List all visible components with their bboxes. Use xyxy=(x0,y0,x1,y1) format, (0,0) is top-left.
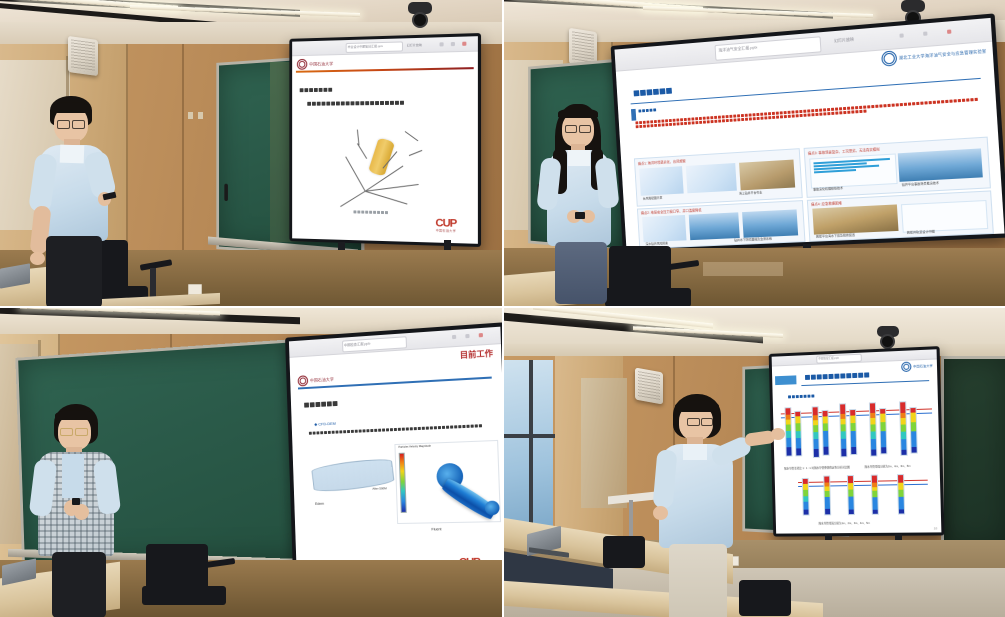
card-1-thumb-photo xyxy=(739,160,795,191)
log-column xyxy=(823,475,831,515)
collar xyxy=(683,444,707,460)
collar xyxy=(568,150,590,166)
log-column xyxy=(794,411,802,457)
divider-vertical xyxy=(502,0,504,617)
glasses-left xyxy=(57,120,70,129)
org-logo: 中国石油大学 xyxy=(298,374,335,387)
maximize-button[interactable] xyxy=(465,334,469,338)
minimize-button[interactable] xyxy=(900,33,904,37)
card-1-tag: 痛点1: 海洋环境恶劣化、台风频繁 xyxy=(638,158,686,166)
minimize-button[interactable] xyxy=(439,42,443,46)
glasses-left xyxy=(687,418,700,426)
collar xyxy=(60,145,85,164)
wall-switch xyxy=(188,112,193,119)
pipe-tip xyxy=(485,501,500,516)
close-button[interactable] xyxy=(947,29,951,33)
arm-right xyxy=(594,157,619,209)
window-mullion xyxy=(529,360,533,540)
card-3-caption-2: 钻井水下防喷器组及监测系统 xyxy=(734,237,772,243)
legend-title: Particles Velocity Magnitude xyxy=(398,445,431,449)
hand-left xyxy=(653,506,668,520)
log-column xyxy=(897,474,905,514)
university-seal-icon xyxy=(298,375,309,386)
axis-line xyxy=(405,131,419,141)
log-chart-row-2 xyxy=(798,474,929,520)
window-mullion xyxy=(503,434,555,438)
glasses-left xyxy=(60,428,73,436)
card-1-caption-1: 台风路径图示意 xyxy=(643,196,663,201)
log-chart-row-1 xyxy=(781,400,934,464)
log-column xyxy=(869,402,877,456)
card-2-caption-2: 钻井平台事故场景推演技术 xyxy=(902,181,939,187)
card-1-caption-2: 海上钻井平台作业 xyxy=(739,190,762,195)
figure-label-after: After 500M xyxy=(372,486,387,490)
presentation-clicker-icon xyxy=(72,498,80,505)
glasses-right xyxy=(75,428,88,436)
card-4-thumb-well xyxy=(901,200,988,233)
chair-back xyxy=(603,536,645,568)
chair-post xyxy=(150,268,156,298)
card-1-thumb-map xyxy=(639,166,683,196)
minimize-button[interactable] xyxy=(452,335,456,339)
door xyxy=(581,378,627,508)
log-column xyxy=(847,475,855,515)
wall-switch xyxy=(198,112,203,119)
presentation-display: 中期答辩汇报.pptx 中国石油大学 二、深海局部环保型形态表层导管 xyxy=(769,346,945,536)
card-4: 痛点4: 应急救援困难 救援平台海水下应急抢修装置 救援井轨道设计中图 xyxy=(807,190,994,241)
card-3: 痛点2: 地层安全压力窗口窄、井口温度降低 深水钻井风险因素 钻井水下防喷器组及… xyxy=(637,200,806,249)
figure-label-edem: Edem xyxy=(315,502,324,506)
slideshow-button-label[interactable]: 幻灯片放映 xyxy=(407,42,422,46)
slide-canvas: 毕业设计中期答辩汇报.pptx 幻灯片放映 中国石油大学 一、毕业 xyxy=(292,36,478,244)
window xyxy=(503,360,553,540)
org-logo-label: 中国石油大学 xyxy=(309,61,333,67)
glasses-right xyxy=(701,418,713,426)
axis-line xyxy=(409,150,423,156)
panel-top-left: 毕业设计中期答辩汇报.pptx 幻灯片放映 中国石油大学 一、毕业 xyxy=(0,0,502,307)
display-screen: 毕业设计中期答辩汇报.pptx 幻灯片放映 中国石油大学 一、毕业 xyxy=(292,36,478,244)
display-screen: 中期检查汇报.pptx 目前工作 中国石油大学 ➢ 复现文献内容: xyxy=(289,327,502,589)
presentation-display: 毕业设计中期答辩汇报.pptx 幻灯片放映 中国石油大学 一、毕业 xyxy=(289,33,481,247)
fringe xyxy=(51,102,91,113)
divider-horizontal xyxy=(0,306,1005,308)
presenter-2 xyxy=(535,104,635,294)
card-3-thumb-system xyxy=(742,209,798,237)
panel-top-right: 海洋油气安全汇报.pptx 幻灯片放映 湖北工业大学海洋油气安全与应急管理实验室… xyxy=(503,0,1005,307)
log-column xyxy=(812,406,820,458)
card-4-caption-1: 救援平台海水下应急抢修装置 xyxy=(816,233,855,239)
card-2: 痛点3: 事故场景复杂、工况恶劣、无法真实模拟 事故演化机理模拟技术 钻井平台事… xyxy=(804,137,991,198)
slide-canvas: 海洋油气安全汇报.pptx 幻灯片放映 湖北工业大学海洋油气安全与应急管理实验室… xyxy=(615,18,1005,250)
caption-row2: 隔水导管埋深分别为1m、2m、3m、4m、5m xyxy=(819,521,870,525)
camera-lens-icon xyxy=(880,334,895,349)
card-4-thumb-platform xyxy=(812,204,898,234)
shirt-opening xyxy=(62,454,84,498)
caption-row1-right: 隔水导管埋深分别为2m、4m、6m、8m xyxy=(865,464,911,469)
org-logo: 中国石油大学 xyxy=(901,361,933,372)
card-2-thumb-diagram xyxy=(809,153,897,188)
axis-line xyxy=(365,191,407,205)
log-column xyxy=(784,407,792,456)
glasses-right xyxy=(579,125,591,133)
hand-left xyxy=(30,252,45,265)
display-screen: 海洋油气安全汇报.pptx 幻灯片放映 湖北工业大学海洋油气安全与应急管理实验室… xyxy=(615,18,1005,250)
trousers xyxy=(555,242,607,304)
log-column xyxy=(909,407,917,454)
log-column xyxy=(822,410,830,456)
card-3-thumb-diagram xyxy=(642,215,686,242)
caption-row1-left: 隔水导管长径比 1 : 1 : 1 时隔水导管整体稳定性分析对比图 xyxy=(784,465,850,470)
trousers xyxy=(46,236,102,307)
figure-label-fluent: Fluent xyxy=(431,527,441,531)
bullet-title: ◆ CFD-DEM xyxy=(314,421,336,427)
fringe xyxy=(558,108,598,118)
color-legend xyxy=(399,453,407,513)
fringe xyxy=(55,410,95,420)
slide-browser-bar: 毕业设计中期答辩汇报.pptx 幻灯片放映 xyxy=(292,36,478,56)
camera-lens-icon xyxy=(412,12,428,28)
cup-brand-logo: CUP 中国石油大学 xyxy=(435,218,456,233)
card-2-caption-1: 事故演化机理模拟技术 xyxy=(813,186,843,192)
section-label: 目前工作 xyxy=(460,348,493,361)
presenter-1 xyxy=(28,96,128,286)
university-seal-icon xyxy=(297,59,307,70)
fluent-render-panel: Particles Velocity Magnitude xyxy=(394,440,501,524)
chair-seat xyxy=(142,586,226,605)
card-2-thumb-photo xyxy=(898,148,983,181)
desk-far xyxy=(703,262,783,276)
university-seal-icon xyxy=(901,362,911,373)
glasses-left xyxy=(565,125,577,133)
log-column xyxy=(879,408,887,454)
presentation-clicker-icon xyxy=(103,192,117,201)
page-number: 10 xyxy=(934,526,938,530)
trousers xyxy=(52,552,106,617)
slideshow-button-label[interactable]: 幻灯片放映 xyxy=(834,37,854,45)
coordinate-diagram xyxy=(336,121,446,209)
org-logo: 中国石油大学 xyxy=(297,58,333,70)
panel-bottom-left: 中期检查汇报.pptx 目前工作 中国石油大学 ➢ 复现文献内容: xyxy=(0,308,502,617)
university-seal-icon xyxy=(881,50,897,66)
fringe xyxy=(675,400,719,412)
photo-collage: 毕业设计中期答辩汇报.pptx 幻灯片放映 中国石油大学 一、毕业 xyxy=(0,0,1005,617)
axis-line xyxy=(357,143,367,159)
cup-subtitle: 中国石油大学 xyxy=(435,229,456,233)
presentation-clicker-icon xyxy=(575,212,585,219)
slide-canvas: 中期答辩汇报.pptx 中国石油大学 二、深海局部环保型形态表层导管 xyxy=(772,349,942,533)
display-screen: 中期答辩汇报.pptx 中国石油大学 二、深海局部环保型形态表层导管 xyxy=(772,349,942,533)
wall-speaker-icon xyxy=(68,36,98,76)
log-column xyxy=(839,403,847,457)
panel-bottom-right: 中期答辩汇报.pptx 中国石油大学 二、深海局部环保型形态表层导管 xyxy=(503,308,1005,617)
axis-line xyxy=(340,191,365,207)
close-button[interactable] xyxy=(478,333,482,337)
lectern-post xyxy=(629,500,633,536)
wall-seam xyxy=(182,44,184,276)
presentation-display: 海洋油气安全汇报.pptx 幻灯片放映 湖北工业大学海洋油气安全与应急管理实验室… xyxy=(611,13,1005,253)
heading-chip xyxy=(775,375,796,385)
close-button[interactable] xyxy=(462,42,466,46)
presentation-display: 中期检查汇报.pptx 目前工作 中国石油大学 ➢ 复现文献内容: xyxy=(285,322,502,592)
hand-right xyxy=(74,504,89,520)
card-4-tag: 痛点4: 应急救援困难 xyxy=(811,200,842,207)
maximize-button[interactable] xyxy=(451,42,455,46)
axis-line xyxy=(345,156,365,191)
chalkboard-right xyxy=(941,356,1005,550)
presenter-4 xyxy=(653,394,773,614)
log-column xyxy=(871,475,879,515)
card-1-thumb-chart xyxy=(686,163,737,193)
org-logo-label: 湖北工业大学海洋油气安全与应急管理实验室 xyxy=(899,48,987,61)
card-4-caption-2: 救援井轨道设计中图 xyxy=(907,229,935,234)
org-logo-label: 中国石油大学 xyxy=(310,376,334,383)
log-column xyxy=(899,401,908,456)
org-logo-label: 中国石油大学 xyxy=(913,364,933,369)
log-column xyxy=(849,409,857,455)
slide-canvas: 中期检查汇报.pptx 目前工作 中国石油大学 ➢ 复现文献内容: xyxy=(289,327,502,589)
log-column xyxy=(802,478,810,516)
card-3-thumb-bop xyxy=(689,212,740,240)
card-1: 痛点1: 海洋环境恶劣化、台风频繁 台风路径图示意 海上钻井平台作业 xyxy=(634,148,803,207)
presenter-3 xyxy=(30,404,140,614)
glasses-right xyxy=(72,120,85,129)
maximize-button[interactable] xyxy=(923,31,927,35)
trousers xyxy=(669,544,727,617)
hand-right-pointing xyxy=(771,428,785,440)
